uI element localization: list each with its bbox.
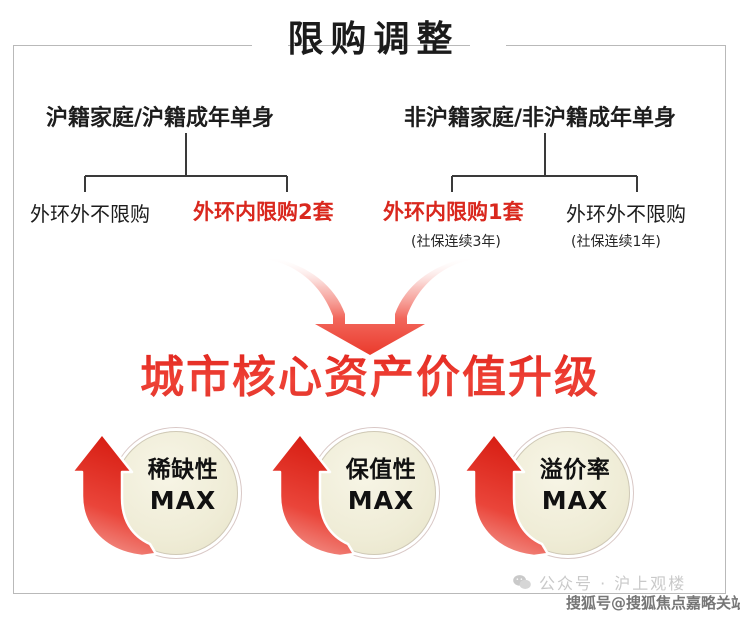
badge-label-cn: 稀缺性 [128, 458, 238, 483]
badge-label-max: MAX [128, 487, 238, 514]
option-label-1: 外环外不限购 [30, 198, 150, 227]
wechat-watermark: 公众号 · 沪上观楼 [512, 570, 686, 594]
badge-label-max: MAX [520, 487, 630, 514]
badge-caption: 保值性 MAX [326, 458, 436, 514]
group-header-nonlocal: 非沪籍家庭/非沪籍成年单身 [404, 100, 676, 132]
badge-label-max: MAX [326, 487, 436, 514]
badge-scarcity: 稀缺性 MAX [72, 424, 262, 559]
main-headline: 城市核心资产价值升级 [0, 352, 740, 404]
badge-label-cn: 保值性 [326, 458, 436, 483]
option-note-3: (社保连续3年) [411, 231, 501, 251]
badge-caption: 稀缺性 MAX [128, 458, 238, 514]
option-label-4: 外环外不限购 [566, 198, 686, 227]
option-label-2: 外环内限购2套 [193, 196, 334, 226]
wechat-icon [512, 574, 532, 590]
option-label-3: 外环内限购1套 [383, 196, 524, 226]
badge-value-retention: 保值性 MAX [270, 424, 460, 559]
badge-premium-rate: 溢价率 MAX [464, 424, 654, 559]
infographic-root: 限购调整 沪籍家庭/沪籍成年单身 非沪籍家庭/非沪籍成年单身 外环外不限购 外环… [0, 0, 740, 617]
wechat-watermark-text: 公众号 · 沪上观楼 [539, 570, 686, 594]
page-title: 限购调整 [0, 18, 740, 62]
badge-label-cn: 溢价率 [520, 458, 630, 483]
badge-caption: 溢价率 MAX [520, 458, 630, 514]
option-note-4: (社保连续1年) [571, 231, 661, 251]
badge-row: 稀缺性 MAX 保值性 MAX [0, 424, 740, 559]
source-stamp-watermark: 搜狐号@搜狐焦点嘉略关站 [566, 592, 740, 613]
funnel-arrow-icon [255, 256, 485, 356]
group-header-local: 沪籍家庭/沪籍成年单身 [46, 100, 274, 132]
